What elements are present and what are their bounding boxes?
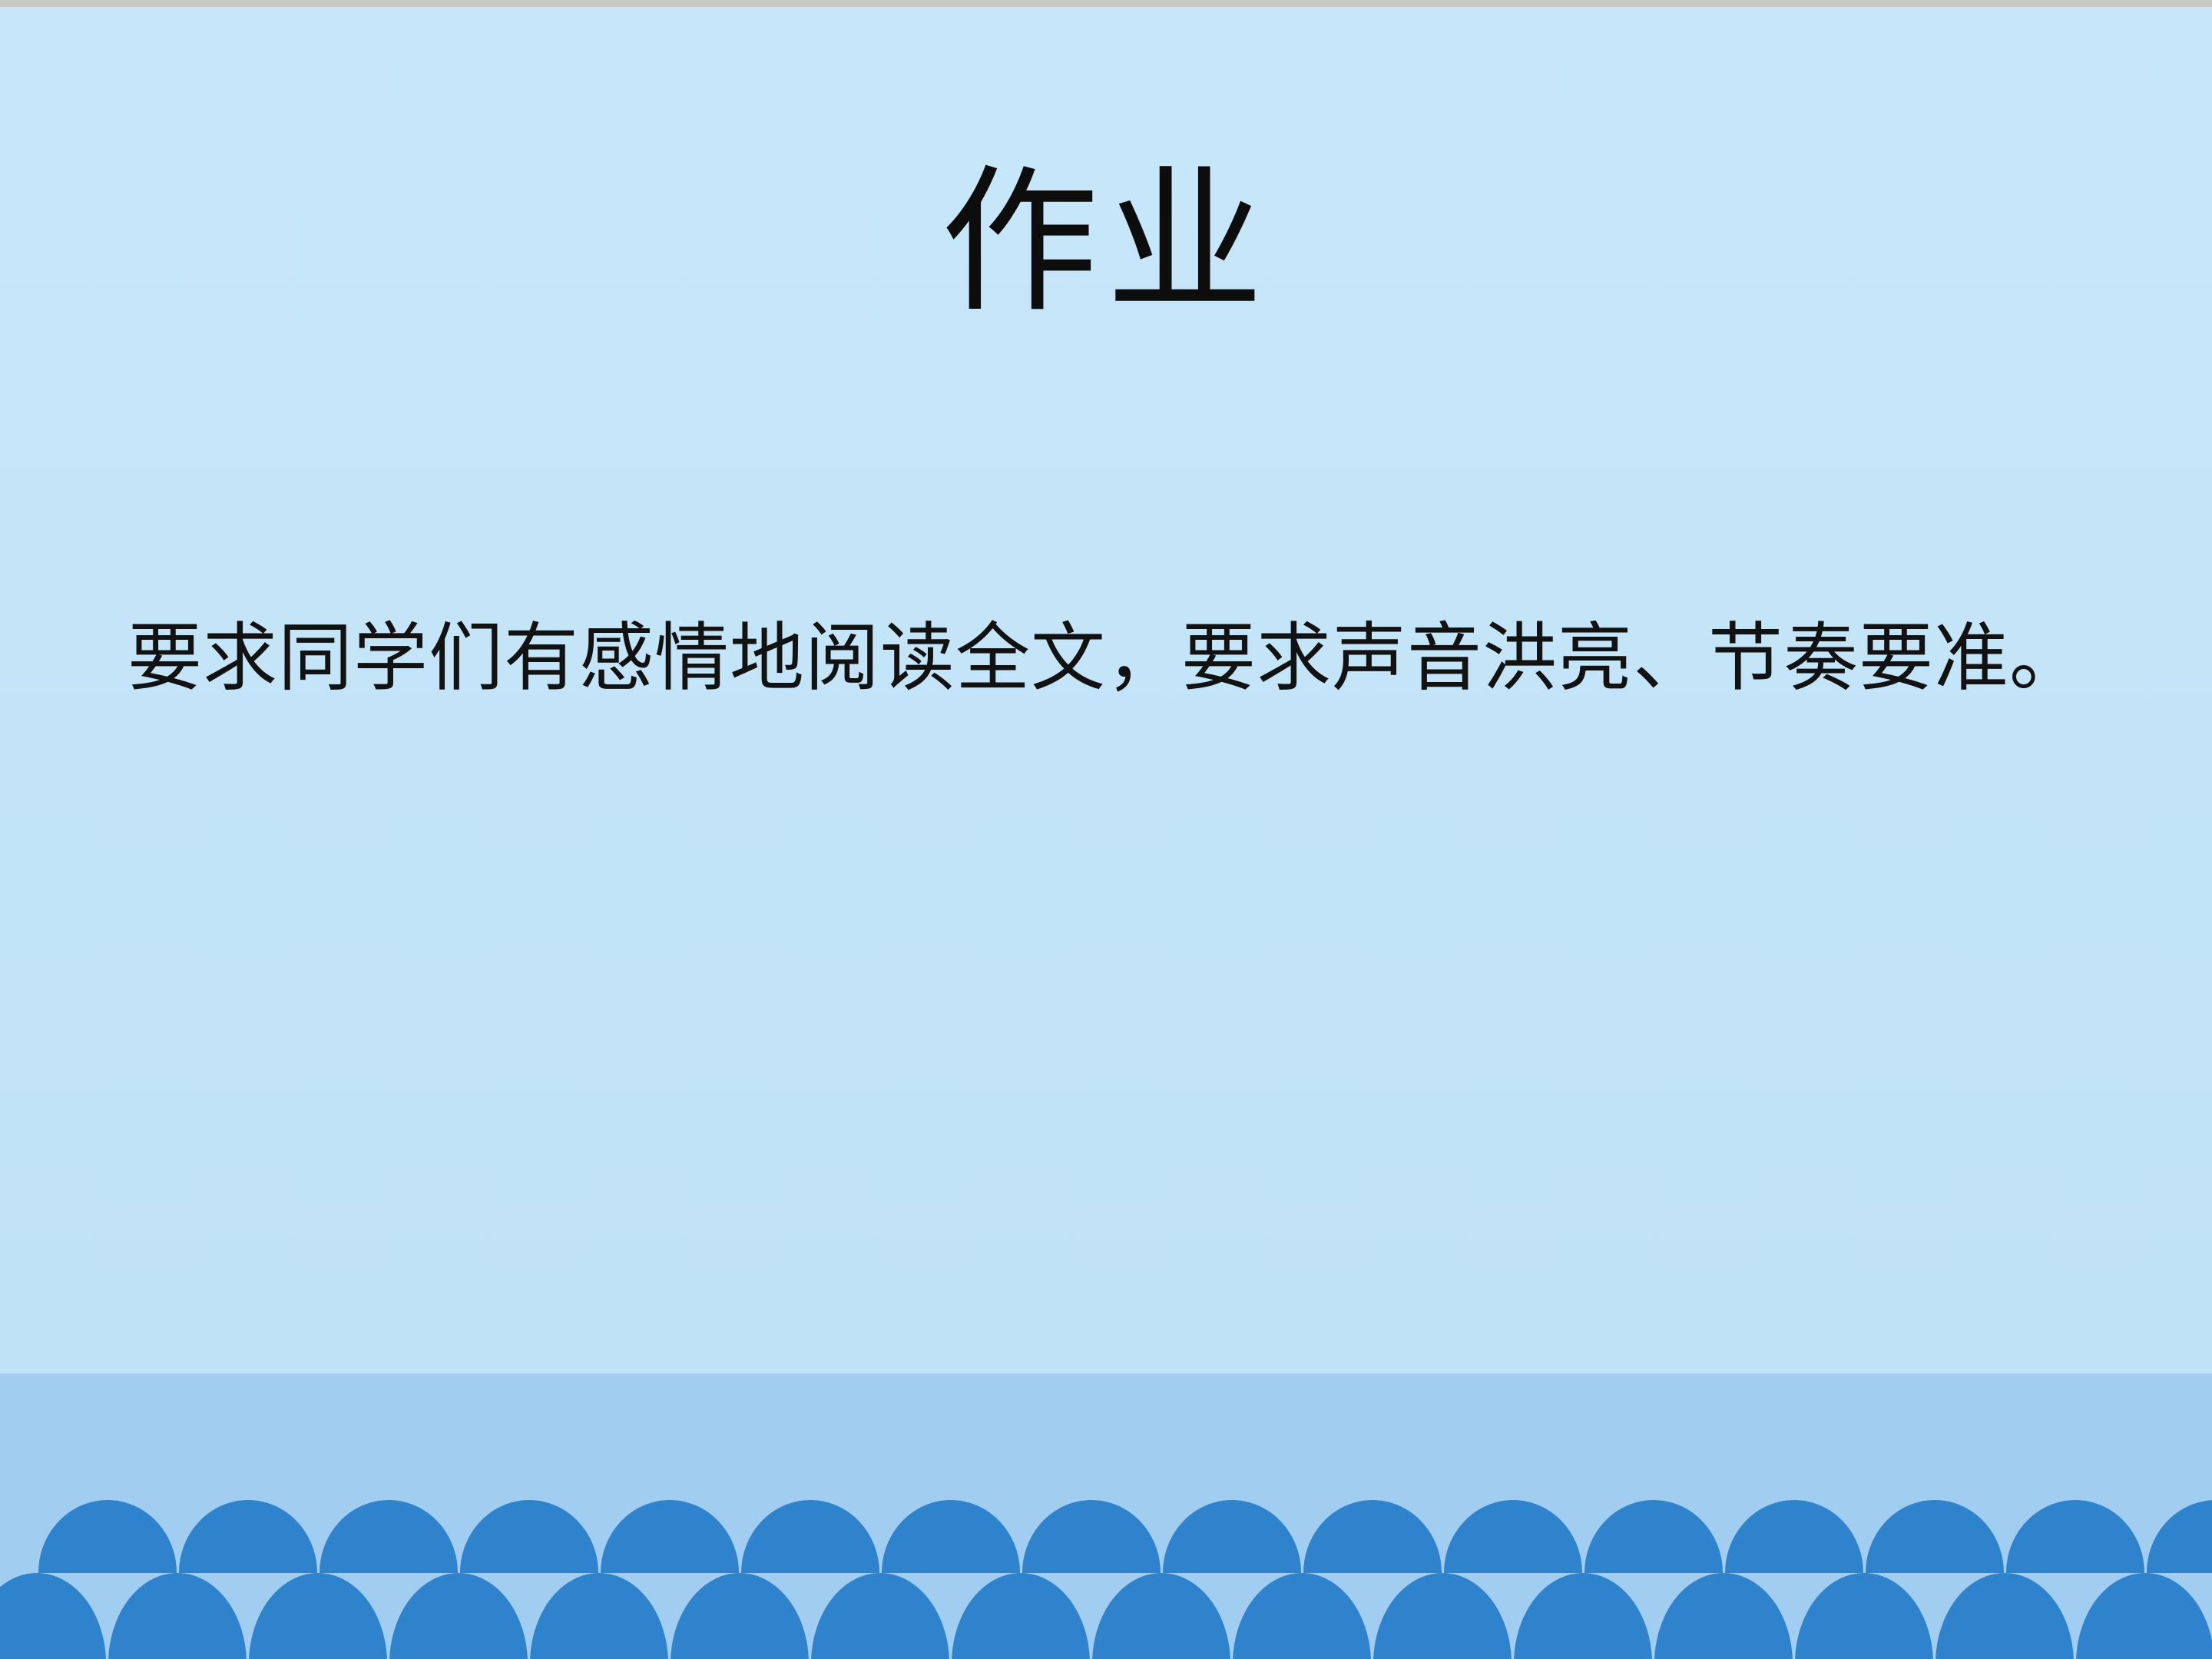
arch-shape	[601, 1500, 739, 1573]
arch-shape	[460, 1500, 598, 1573]
arch-shape	[1373, 1573, 1512, 1659]
arch-shape	[1444, 1500, 1582, 1573]
arch-shape	[811, 1573, 949, 1659]
arch-shape	[1514, 1573, 1652, 1659]
bottom-decoration-band	[0, 1373, 2212, 1659]
arch-shape	[179, 1500, 317, 1573]
slide-body-text: 要求同学们有感情地阅读全文，要求声音洪亮、节奏要准。	[0, 611, 2212, 707]
band-top-hairline	[0, 1373, 2212, 1376]
arch-shape	[952, 1573, 1090, 1659]
arch-shape	[2076, 1573, 2212, 1659]
slide-canvas: 作业 要求同学们有感情地阅读全文，要求声音洪亮、节奏要准。	[0, 0, 2212, 1659]
arch-shape	[38, 1500, 177, 1573]
arch-shape	[249, 1573, 387, 1659]
arch-shape	[1866, 1500, 2004, 1573]
arch-shape	[671, 1573, 809, 1659]
arch-shape	[1233, 1573, 1371, 1659]
arch-shape	[1725, 1500, 1863, 1573]
arch-shape	[741, 1500, 879, 1573]
arch-shape	[882, 1500, 1020, 1573]
arch-shape	[530, 1573, 668, 1659]
arch-shape	[1163, 1500, 1301, 1573]
arch-shape	[1022, 1500, 1161, 1573]
arch-row-upper	[0, 1500, 2212, 1573]
arch-shape	[320, 1500, 458, 1573]
arch-shape	[1092, 1573, 1230, 1659]
arch-shape	[2006, 1500, 2144, 1573]
arch-shape	[2147, 1500, 2212, 1573]
arch-shape	[389, 1573, 528, 1659]
arch-shape	[1303, 1500, 1442, 1573]
arch-shape	[108, 1573, 247, 1659]
arch-shape	[0, 1573, 106, 1659]
window-top-strip	[0, 0, 2212, 7]
arch-shape	[1795, 1573, 1933, 1659]
arch-shape	[1654, 1573, 1793, 1659]
arch-shape	[1584, 1500, 1723, 1573]
arch-row-lower	[0, 1573, 2212, 1659]
slide-title: 作业	[0, 146, 2212, 343]
arch-shape	[1936, 1573, 2074, 1659]
